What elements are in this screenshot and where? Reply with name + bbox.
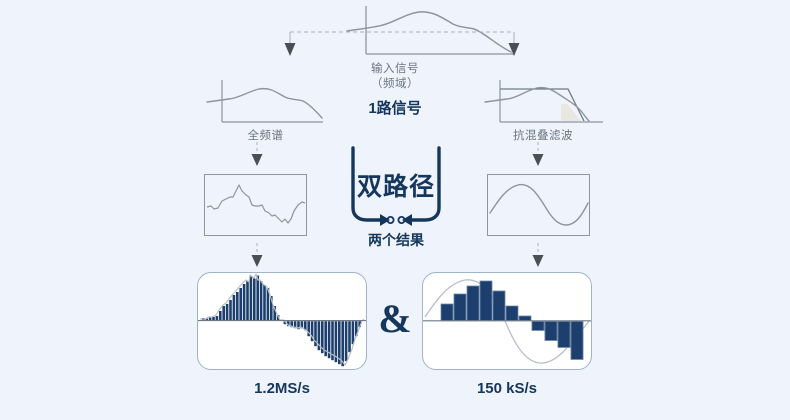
arrow-down-icon [285, 43, 296, 56]
branch-right-caption: 抗混叠滤波 [478, 127, 608, 143]
dual-path-subtitle: 两个结果 [336, 230, 456, 250]
input-caption: 输入信号 （频域） [335, 62, 455, 92]
input-emphasis-label: 1路信号 [335, 97, 455, 118]
branch-left-caption: 全频谱 [208, 127, 323, 143]
arrow-down-icon [533, 255, 544, 267]
high-rate-result-panel [197, 272, 367, 370]
input-caption-line1: 输入信号 [335, 62, 455, 77]
noisy-waveform-icon [205, 175, 306, 235]
branch-left-arrow-2 [250, 243, 264, 269]
input-caption-line2: （频域） [335, 77, 455, 92]
branch-right-arrow-2 [531, 243, 545, 269]
branch-right-arrow-1 [531, 142, 545, 168]
low-rate-label: 150 kS/s [447, 380, 567, 397]
dense-bars-waveform-icon [198, 273, 366, 369]
arrow-down-icon [252, 255, 263, 267]
sine-waveform-icon [488, 175, 589, 235]
noisy-waveform-box [204, 174, 307, 236]
arrow-down-icon [509, 43, 520, 56]
arrow-down-icon [252, 154, 263, 166]
low-rate-result-panel [422, 272, 592, 370]
coarse-bars-sine-icon [423, 273, 591, 369]
sine-waveform-box [487, 174, 590, 236]
full-spectrum-chart [205, 78, 325, 128]
anti-alias-filter-chart [483, 78, 605, 128]
arrow-down-icon [533, 154, 544, 166]
diagram-canvas: 输入信号 （频域） 1路信号 全频谱 [0, 0, 790, 420]
split-connector [282, 28, 522, 62]
dual-path-title: 双路径 [336, 167, 456, 203]
conjunction-ampersand: & [372, 296, 418, 342]
branch-left-arrow-1 [250, 142, 264, 168]
high-rate-label: 1.2MS/s [222, 380, 342, 397]
